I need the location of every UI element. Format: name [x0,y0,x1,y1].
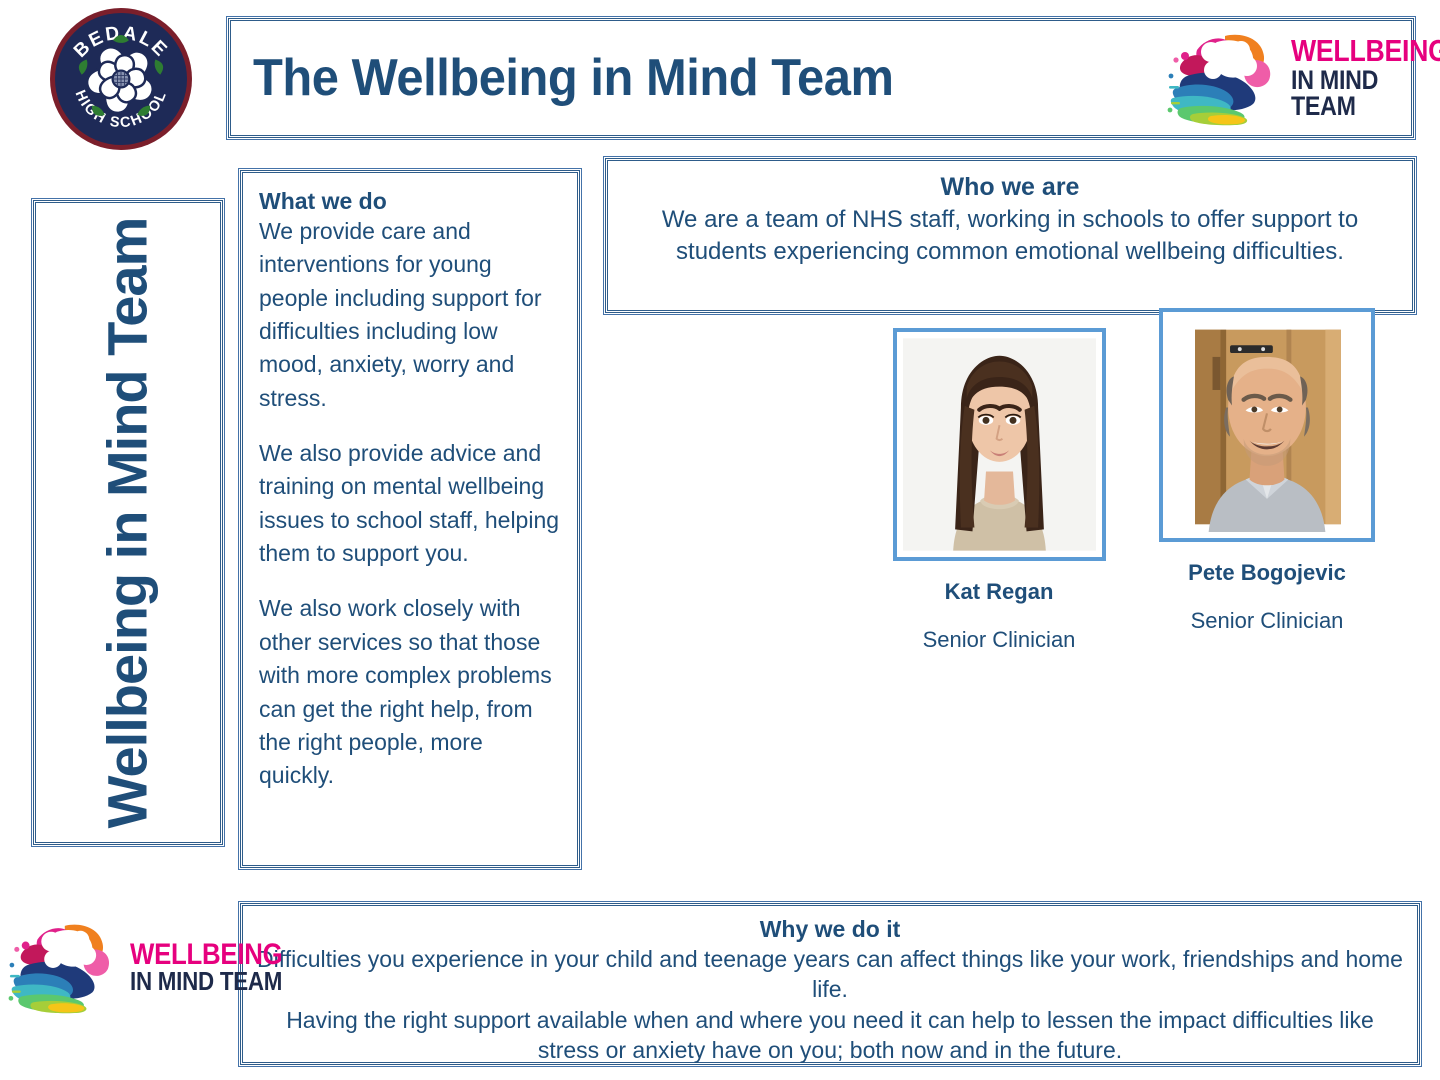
pete-bogojevic-photo [1169,318,1365,532]
school-crest: BEDALE HIGH SCHOOL [50,8,192,150]
what-we-do-paragraph-3: We also work closely with other services… [259,592,561,792]
staff-list: Kat Regan Senior Clinician [860,320,1420,680]
wellbeing-head-blobs-icon [1167,30,1287,126]
staff-role: Senior Clinician [874,627,1124,653]
kat-regan-photo-frame [893,328,1106,561]
wellbeing-head-blobs-icon [8,920,126,1014]
who-we-are-heading: Who we are [626,173,1394,202]
kat-regan-photo [903,338,1096,551]
wellbeing-logo-line2: IN MIND TEAM [1291,67,1440,120]
wellbeing-in-mind-team-logo-header: WELLBEING IN MIND TEAM [1167,30,1395,126]
staff-name: Kat Regan [874,579,1124,605]
who-we-are-body: We are a team of NHS staff, working in s… [626,204,1394,268]
what-we-do-paragraph-2: We also provide advice and training on m… [259,437,561,570]
pete-bogojevic-photo-frame [1159,308,1375,542]
staff-card: Pete Bogojevic Senior Clinician [1142,308,1392,634]
staff-card: Kat Regan Senior Clinician [874,328,1124,653]
wellbeing-logo-wordmark: WELLBEING IN MIND TEAM [130,940,307,995]
wellbeing-in-mind-team-logo-footer: WELLBEING IN MIND TEAM [8,920,230,1014]
why-we-do-it-panel: Why we do it Difficulties you experience… [240,903,1420,1065]
sidebar-banner-label: Wellbeing in Mind Team [97,213,160,833]
wellbeing-logo-line1: WELLBEING [1291,36,1440,66]
page-title: The Wellbeing in Mind Team [253,48,893,108]
wellbeing-logo-line2: IN MIND TEAM [130,969,282,994]
why-we-do-it-heading: Why we do it [255,916,1405,943]
staff-name: Pete Bogojevic [1142,560,1392,586]
title-bar: The Wellbeing in Mind Team [228,18,1414,138]
why-we-do-it-line-2: Having the right support available when … [255,1005,1405,1066]
what-we-do-paragraph-1: We provide care and interventions for yo… [259,215,561,415]
why-we-do-it-line-1: Difficulties you experience in your chil… [255,944,1405,1005]
what-we-do-heading: What we do [259,187,561,215]
what-we-do-panel: What we do We provide care and intervent… [240,170,580,868]
sidebar-banner: Wellbeing in Mind Team [33,200,223,845]
staff-role: Senior Clinician [1142,608,1392,634]
who-we-are-panel: Who we are We are a team of NHS staff, w… [605,158,1415,313]
yorkshire-rose-icon [77,35,165,123]
wellbeing-logo-line1: WELLBEING [130,940,282,969]
wellbeing-logo-wordmark: WELLBEING IN MIND TEAM [1291,36,1440,119]
